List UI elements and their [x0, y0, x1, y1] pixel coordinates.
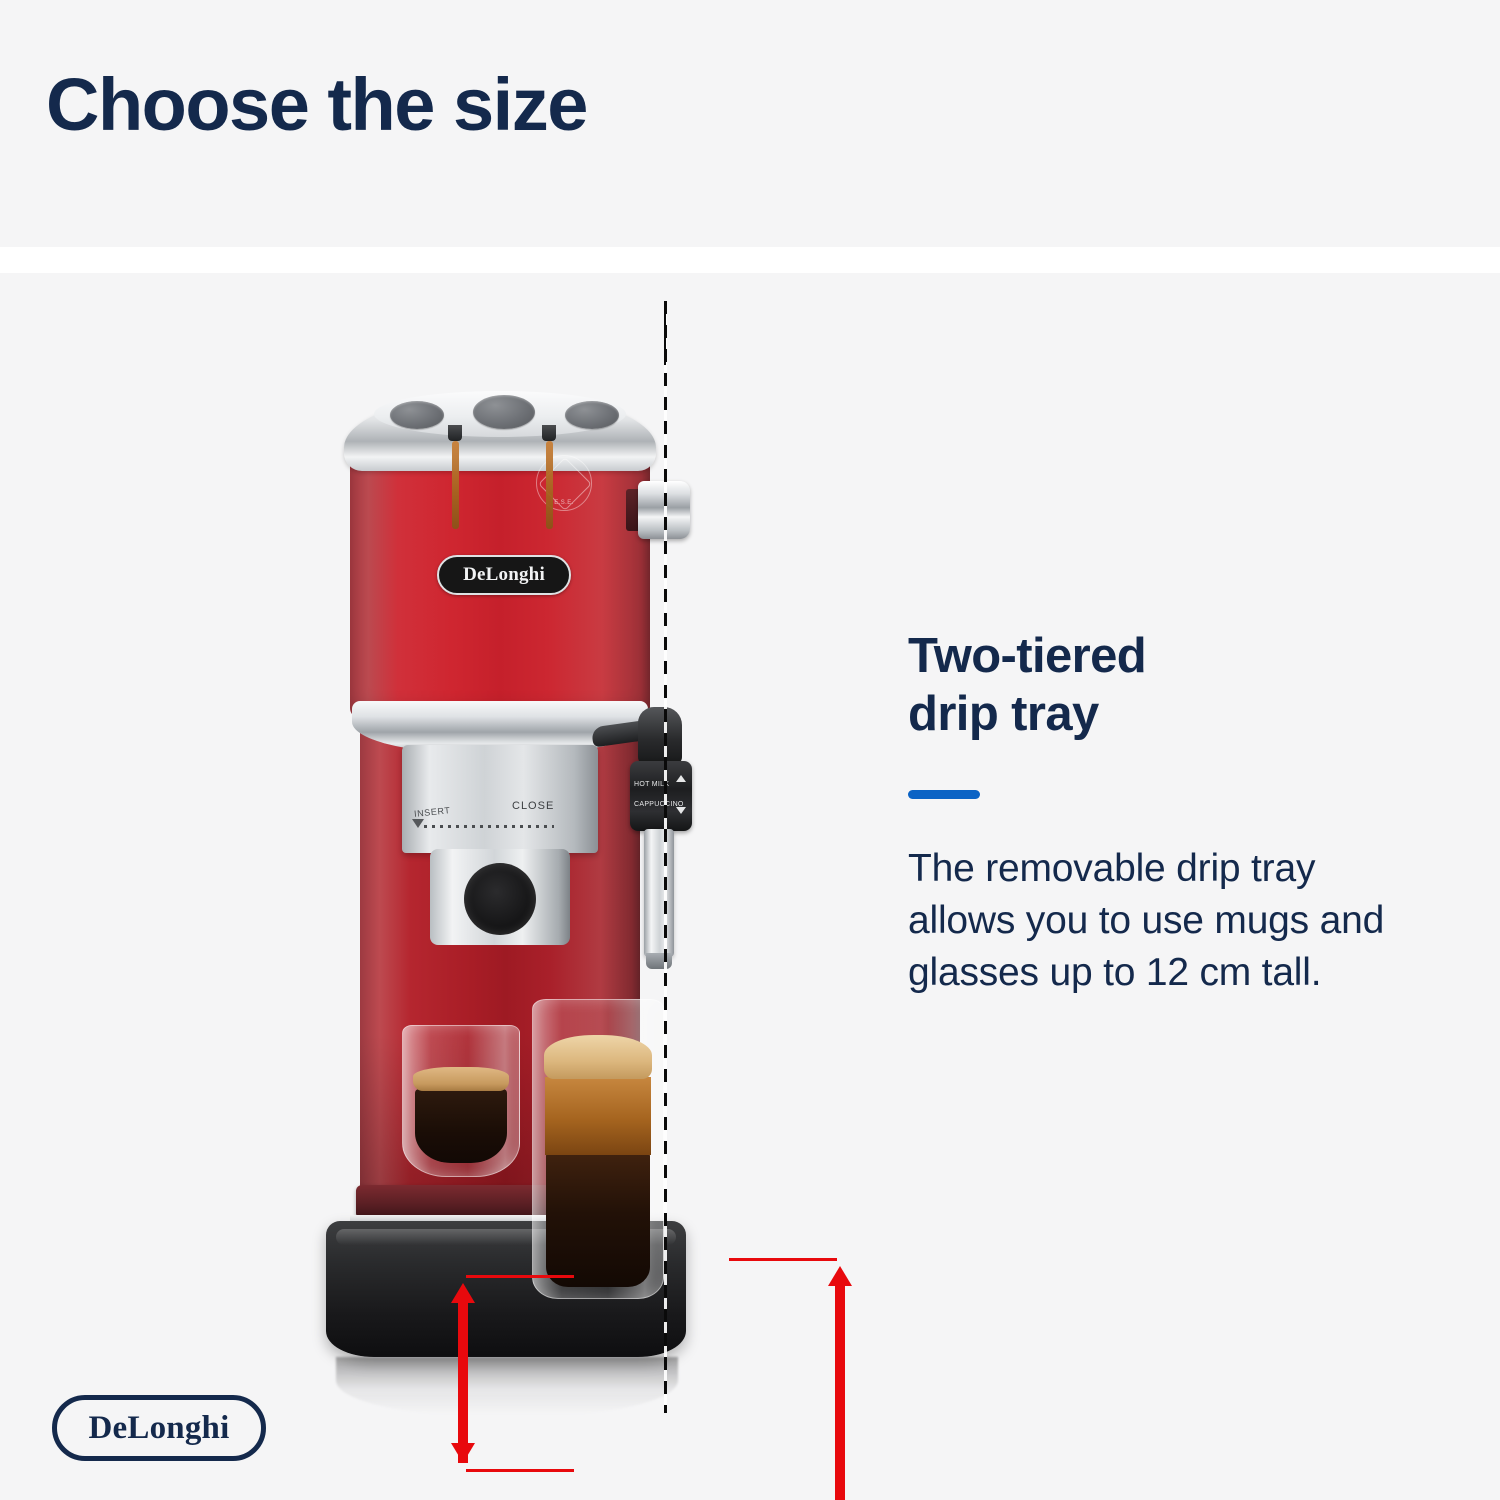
control-button-right[interactable] [565, 401, 619, 429]
arrow-shaft [458, 1303, 468, 1463]
espresso-cup-small [402, 1025, 520, 1177]
feature-body-text: The removable drip tray allows you to us… [908, 843, 1428, 1000]
arrow-head-down-icon [451, 1443, 475, 1463]
cup-tall-crema [544, 1035, 652, 1079]
measurement-tick-top [466, 1275, 574, 1278]
coffee-stream-left [452, 441, 459, 529]
comparison-split-line-solid [664, 301, 666, 365]
page-title: Choose the size [46, 66, 587, 144]
steam-wand-head [638, 707, 682, 765]
brew-group: INSERT CLOSE [402, 745, 598, 853]
control-button-left[interactable] [390, 401, 444, 429]
arrow-up-icon [676, 775, 686, 782]
delonghi-logo: DeLonghi [52, 1395, 266, 1461]
portafilter-basket-icon [464, 863, 536, 935]
coffee-stream-right [546, 441, 553, 529]
spout-nozzle-right [542, 425, 556, 441]
steam-wand-tube [644, 829, 674, 957]
drip-tray-upper-tier[interactable] [356, 1185, 556, 1219]
cup-small-crema [413, 1067, 509, 1091]
portafilter-head [430, 849, 570, 945]
product-illustration: DeLonghi E.S.E. INSERT CLOSE [180, 293, 820, 1413]
glass-tall [532, 999, 664, 1299]
surface-reflection [336, 1357, 678, 1415]
steam-wand-selector[interactable]: HOT MILK CAPPUCCINO [630, 761, 692, 831]
cup-tall-coffee [546, 1153, 650, 1287]
measurement-tick-top [729, 1258, 837, 1261]
brand-badge-label: DeLonghi [463, 564, 545, 586]
close-label: CLOSE [512, 800, 554, 812]
measurement-tick-bottom [466, 1469, 574, 1472]
steam-wand-tip [646, 953, 672, 969]
header-band: Choose the size [0, 0, 1500, 247]
header-divider [0, 247, 1500, 273]
arrow-down-icon [676, 807, 686, 814]
arrow-head-up-icon [451, 1283, 475, 1303]
control-button-center[interactable] [473, 395, 535, 429]
comparison-split-line [664, 301, 667, 1413]
insert-label: INSERT [414, 805, 451, 819]
feature-copy-block: Two-tiered drip tray The removable drip … [908, 628, 1428, 999]
cup-tall-mid-layer [545, 1077, 651, 1155]
feature-title-line1: Two-tiered [908, 628, 1428, 686]
ese-certification-icon: E.S.E. [536, 455, 592, 511]
brand-badge: DeLonghi [437, 555, 571, 595]
feature-title-line2: drip tray [908, 686, 1428, 744]
feature-title: Two-tiered drip tray [908, 628, 1428, 744]
spout-nozzle-left [448, 425, 462, 441]
cup-small-coffee [415, 1089, 507, 1163]
alignment-triangle-icon [412, 819, 424, 828]
page-root: Choose the size DeLonghi E.S.E. [0, 0, 1500, 1500]
content-area: DeLonghi E.S.E. INSERT CLOSE [0, 273, 1500, 1500]
arrow-head-up-icon [828, 1266, 852, 1286]
arrow-shaft [835, 1286, 845, 1500]
alignment-dotted-track [424, 825, 554, 828]
delonghi-logo-text: DeLonghi [89, 1410, 230, 1447]
accent-rule [908, 790, 980, 799]
